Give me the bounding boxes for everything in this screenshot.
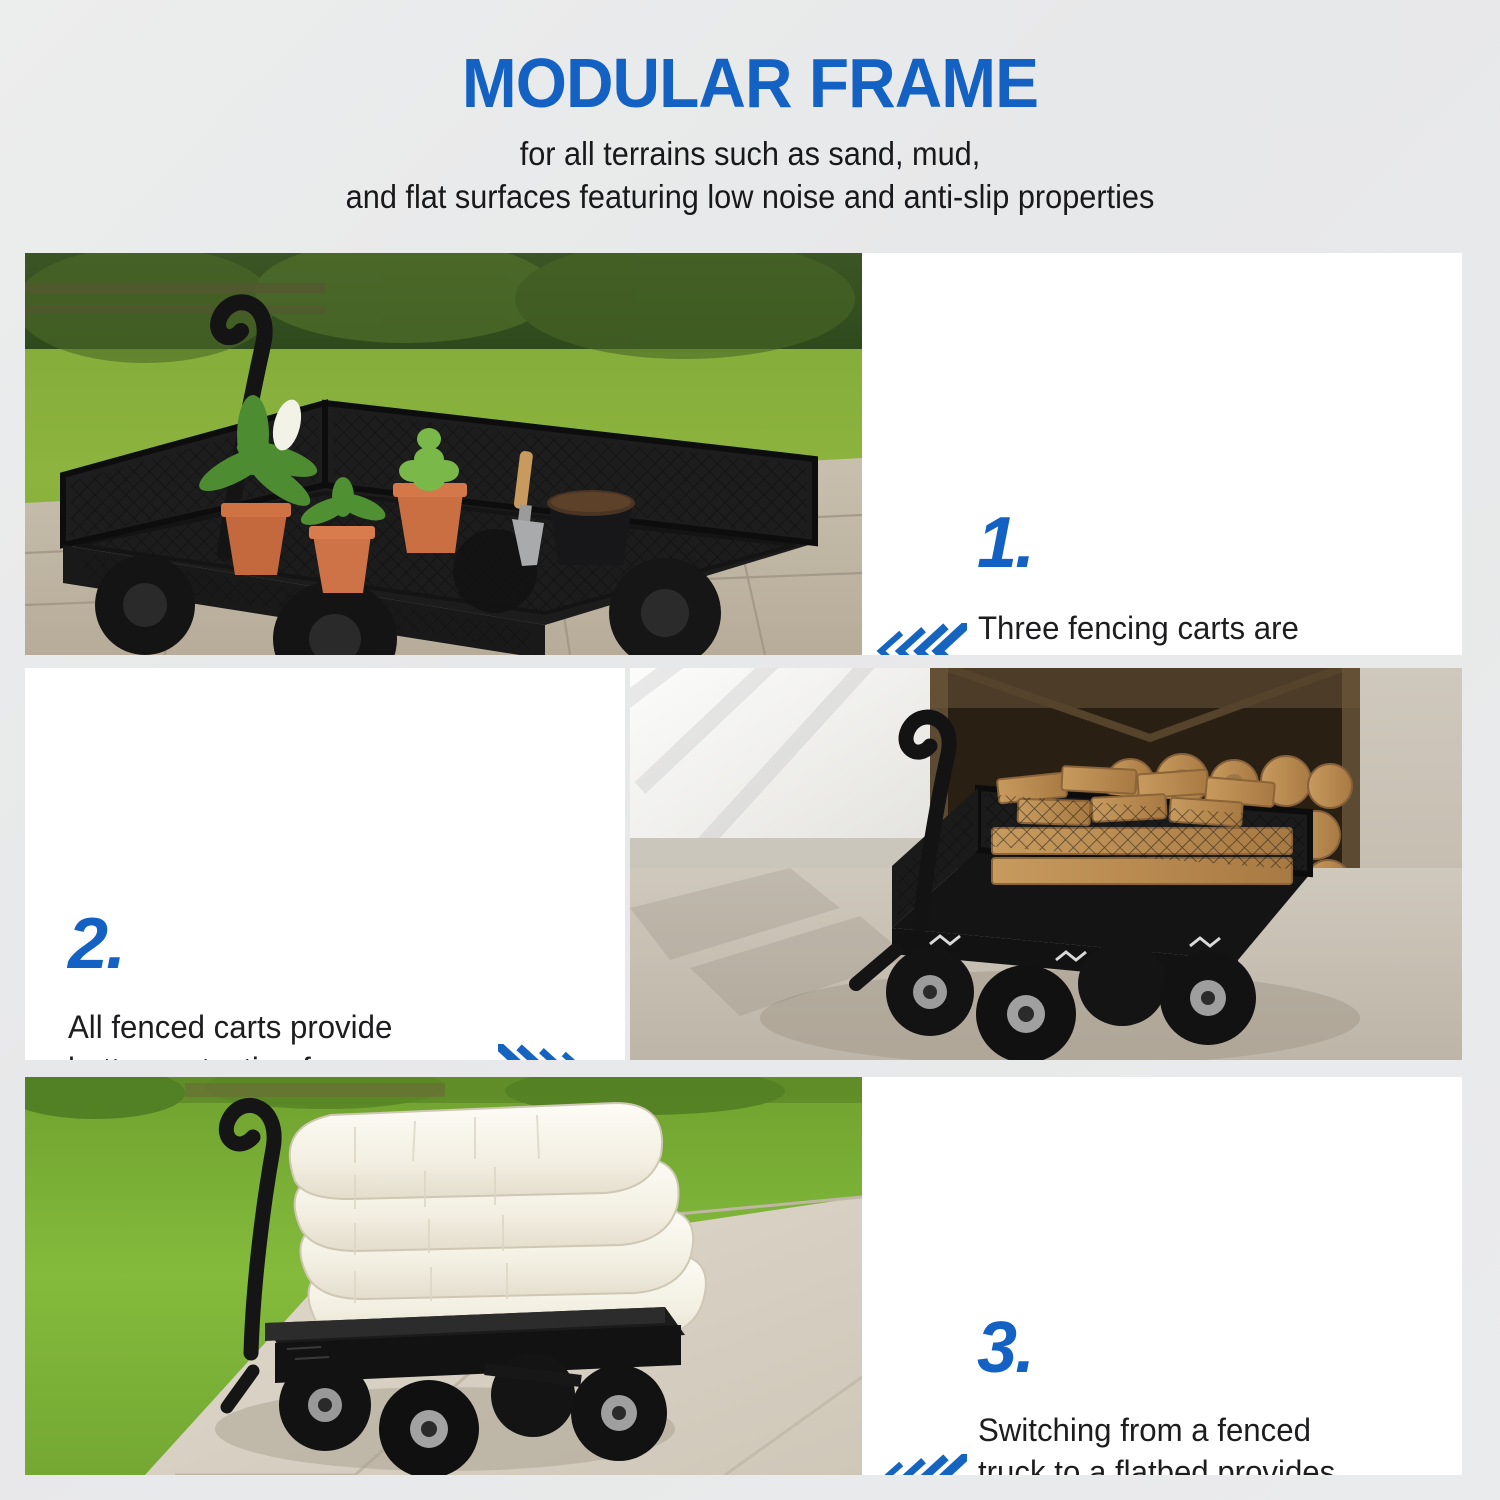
feature-card-3: 3. Switching from a fenced truck to a fl… xyxy=(862,1077,1462,1475)
feature-card-2: 2. All fenced carts provide better prote… xyxy=(25,668,625,1060)
feature-text-2: All fenced carts provide better protecti… xyxy=(68,1006,519,1060)
feature-text-1-line-1: Three fencing carts are xyxy=(978,607,1429,649)
firewood-cart-illustration xyxy=(630,668,1462,1060)
subtitle-line-1: for all terrains such as sand, mud, xyxy=(53,133,1448,175)
feature-text-3-line-2: truck to a flatbed provides xyxy=(978,1451,1439,1475)
feature-photo-1 xyxy=(25,253,862,655)
flatbed-cart-pillows-illustration xyxy=(25,1077,862,1475)
chevrons-left-icon xyxy=(875,1454,967,1475)
page-title: MODULAR FRAME xyxy=(45,48,1455,119)
chevrons-left-icon xyxy=(875,623,967,655)
feature-number-3: 3. xyxy=(977,1316,1033,1381)
feature-text-1-line-2: more convenient for yard, xyxy=(978,649,1429,655)
feature-photo-2 xyxy=(630,668,1462,1060)
feature-text-1: Three fencing carts are more convenient … xyxy=(978,607,1429,655)
garden-cart-plants-illustration xyxy=(25,253,862,655)
subtitle-line-2: and flat surfaces featuring low noise an… xyxy=(53,176,1448,218)
feature-text-3: Switching from a fenced truck to a flatb… xyxy=(978,1409,1439,1475)
page-subtitle: for all terrains such as sand, mud, and … xyxy=(53,133,1448,217)
feature-text-2-line-1: All fenced carts provide xyxy=(68,1006,519,1048)
feature-text-3-line-1: Switching from a fenced xyxy=(978,1409,1439,1451)
feature-number-1: 1. xyxy=(977,511,1033,576)
feature-text-2-line-2: better protection for xyxy=(68,1048,519,1060)
feature-photo-3 xyxy=(25,1077,862,1475)
header-banner: MODULAR FRAME for all terrains such as s… xyxy=(0,0,1500,250)
feature-card-1: 1. Three fencing carts are more convenie… xyxy=(862,253,1462,655)
feature-number-2: 2. xyxy=(68,912,124,977)
